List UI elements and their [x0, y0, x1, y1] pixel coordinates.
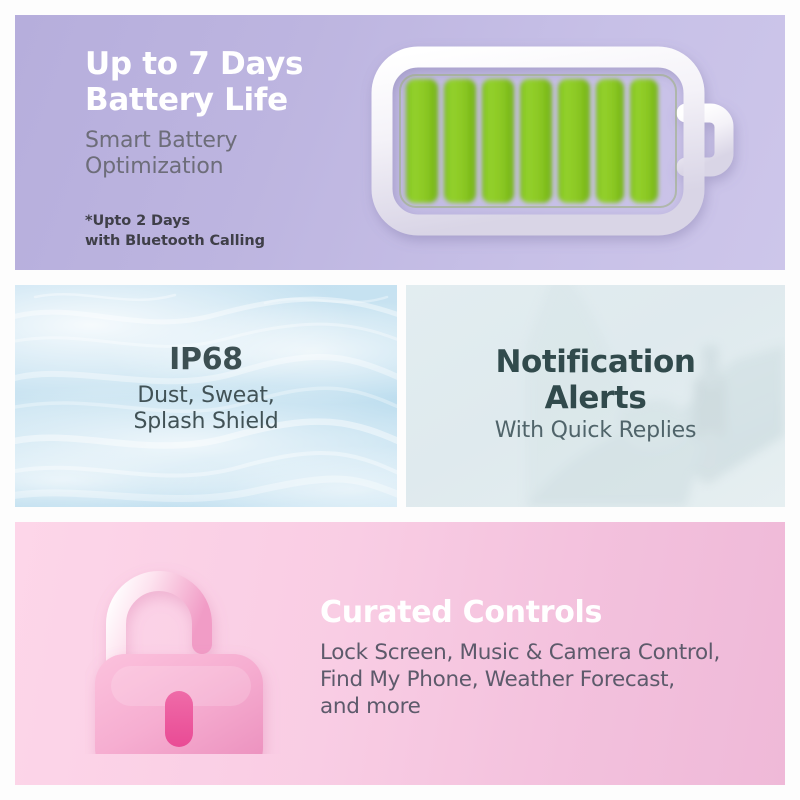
controls-copy-block: Curated Controls Lock Screen, Music & Ca… — [320, 596, 780, 720]
controls-heading: Curated Controls — [320, 596, 780, 631]
battery-bars — [406, 79, 658, 203]
ip68-heading: IP68 — [15, 343, 397, 377]
padlock-shackle — [116, 581, 202, 666]
panel-ip68-water-resistance: IP68 Dust, Sweat, Splash Shield — [15, 285, 397, 507]
notifications-copy-block: Notification Alerts With Quick Replies — [406, 345, 785, 445]
battery-copy-block: Up to 7 Days Battery Life Smart Battery … — [85, 47, 385, 251]
battery-full-icon — [360, 35, 780, 260]
notifications-subheading: With Quick Replies — [406, 418, 785, 444]
battery-subheading: Smart Battery Optimization — [85, 128, 385, 181]
battery-bar — [482, 79, 514, 203]
battery-bar — [520, 79, 552, 203]
controls-subheading: Lock Screen, Music & Camera Control, Fin… — [320, 639, 780, 721]
ip68-copy-block: IP68 Dust, Sweat, Splash Shield — [15, 343, 397, 435]
battery-heading: Up to 7 Days Battery Life — [85, 47, 385, 119]
battery-footnote: *Upto 2 Days with Bluetooth Calling — [85, 211, 385, 251]
panel-curated-controls: Curated Controls Lock Screen, Music & Ca… — [15, 522, 785, 785]
ip68-subheading: Dust, Sweat, Splash Shield — [15, 383, 397, 436]
open-padlock-icon — [85, 554, 300, 754]
battery-bar — [558, 79, 590, 203]
padlock-keyhole — [165, 691, 193, 747]
battery-bar — [444, 79, 476, 203]
battery-bar — [630, 79, 658, 203]
feature-highlights-board: Up to 7 Days Battery Life Smart Battery … — [0, 0, 800, 800]
panel-battery-life: Up to 7 Days Battery Life Smart Battery … — [15, 15, 785, 270]
notifications-heading: Notification Alerts — [406, 345, 785, 416]
battery-bar — [596, 79, 624, 203]
battery-bar — [406, 79, 438, 203]
panel-notification-alerts: Notification Alerts With Quick Replies — [406, 285, 785, 507]
